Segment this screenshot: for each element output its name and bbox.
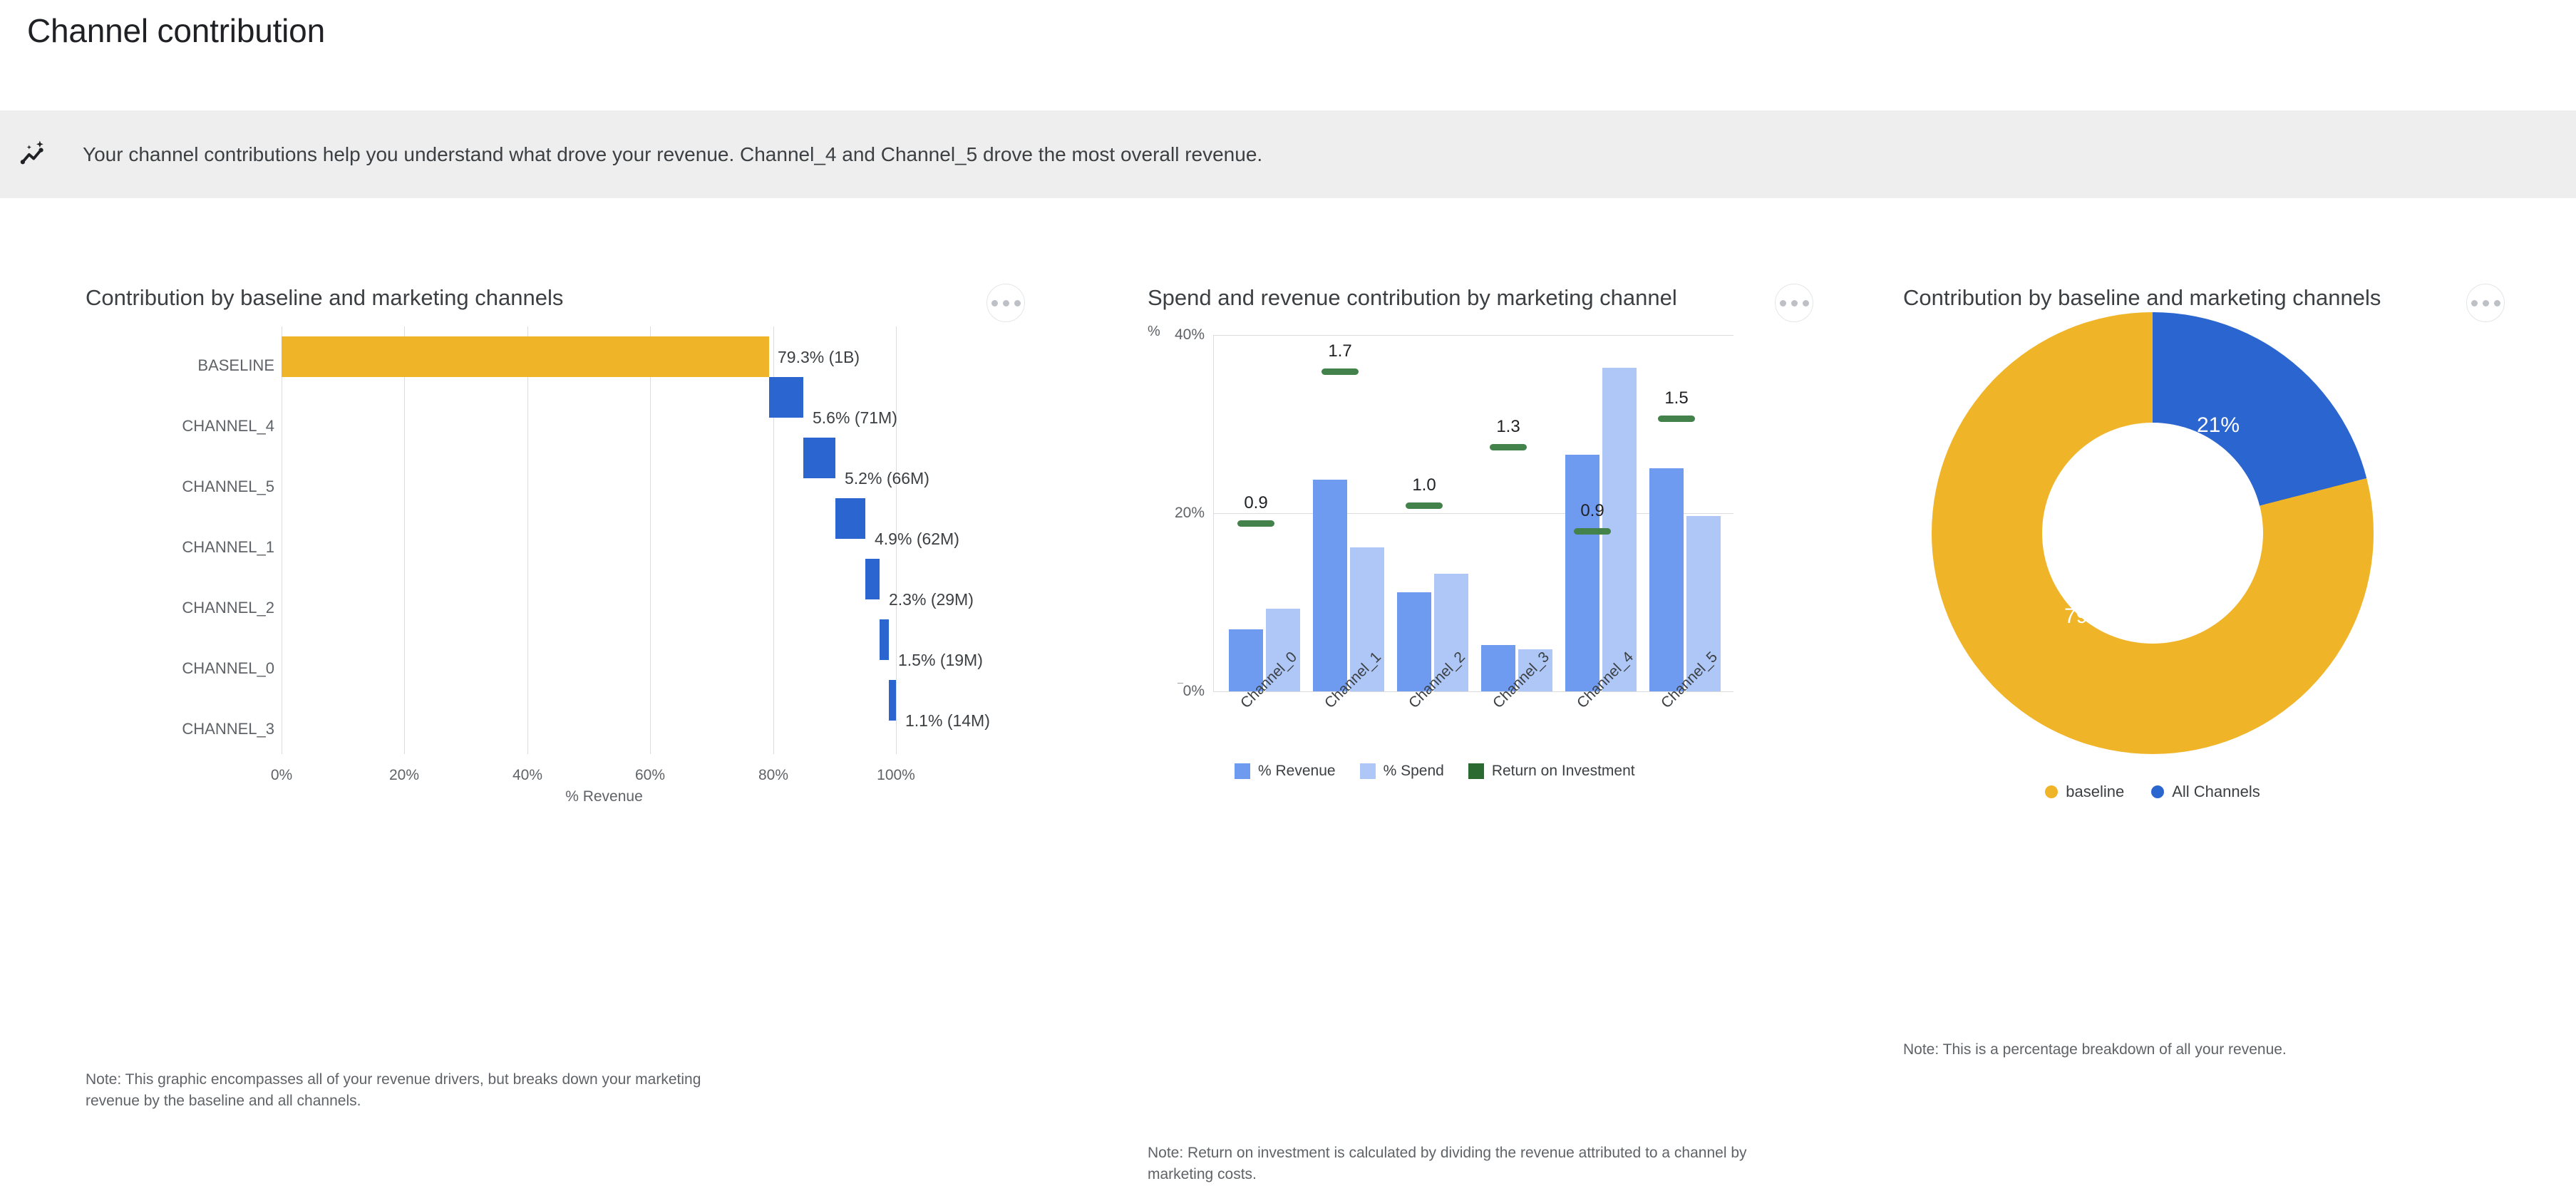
legend-dot-icon xyxy=(2045,785,2058,798)
donut-slice-label-baseline: 79% xyxy=(2064,604,2107,629)
gridline xyxy=(1213,691,1733,692)
legend-dot-icon xyxy=(2151,785,2164,798)
bars-note: Note: Return on investment is calculated… xyxy=(1148,1143,1775,1186)
waterfall-category-label: BASELINE xyxy=(197,356,274,375)
bar-group-channel-4: 0.9 xyxy=(1565,335,1639,691)
x-axis-tick: 60% xyxy=(635,767,665,784)
bar-revenue[interactable] xyxy=(1565,455,1599,691)
bar-group-channel-1: 1.7 xyxy=(1313,335,1387,691)
waterfall-value-label: 1.1% (14M) xyxy=(905,711,990,731)
roi-marker[interactable] xyxy=(1237,520,1274,527)
legend-swatch-icon xyxy=(1360,763,1376,779)
bars-legend: % Revenue % Spend Return on Investment xyxy=(1235,763,1635,780)
waterfall-category-label: CHANNEL_0 xyxy=(182,659,274,678)
kebab-dot-icon xyxy=(1003,300,1009,306)
legend-label: All Channels xyxy=(2172,783,2260,801)
x-axis-tick: 100% xyxy=(877,767,915,784)
waterfall-value-label: 79.3% (1B) xyxy=(778,348,860,367)
donut-chart: 21% 79% baseline All Channels xyxy=(1932,312,2431,811)
roi-value-label: 1.7 xyxy=(1316,341,1364,361)
waterfall-value-label: 2.3% (29M) xyxy=(889,590,974,609)
bars-more-options-button[interactable] xyxy=(1775,284,1813,322)
kebab-dot-icon xyxy=(2494,300,2500,306)
kebab-dot-icon xyxy=(2471,300,2478,306)
y-axis-tick: 20% xyxy=(1175,505,1205,522)
donut-chart-title: Contribution by baseline and marketing c… xyxy=(1903,285,2381,311)
insight-banner: Your channel contributions help you unde… xyxy=(0,110,2576,198)
waterfall-bar-baseline[interactable] xyxy=(282,336,769,377)
auto-insights-icon xyxy=(14,135,54,175)
waterfall-bar-channel-4[interactable] xyxy=(769,377,803,418)
legend-label: baseline xyxy=(2066,783,2124,801)
bar-group-channel-3: 1.3 xyxy=(1481,335,1555,691)
waterfall-category-label: CHANNEL_4 xyxy=(182,417,274,435)
kebab-dot-icon xyxy=(1803,300,1809,306)
donut-note: Note: This is a percentage breakdown of … xyxy=(1903,1039,2516,1061)
gridline xyxy=(650,326,651,754)
bar-revenue[interactable] xyxy=(1649,468,1684,691)
kebab-dot-icon xyxy=(1014,300,1021,306)
legend-item-all-channels[interactable]: All Channels xyxy=(2151,783,2260,801)
waterfall-x-axis: 0% 20% 40% 60% 80% 100% xyxy=(282,757,927,785)
roi-marker[interactable] xyxy=(1658,416,1695,422)
bar-group-channel-5: 1.5 xyxy=(1649,335,1724,691)
legend-item-roi[interactable]: Return on Investment xyxy=(1468,763,1635,780)
legend-item-revenue[interactable]: % Revenue xyxy=(1235,763,1336,780)
waterfall-more-options-button[interactable] xyxy=(986,284,1025,322)
panel-waterfall: Contribution by baseline and marketing c… xyxy=(0,198,1112,1021)
legend-label: % Spend xyxy=(1384,763,1444,780)
donut-legend: baseline All Channels xyxy=(1932,783,2374,801)
bars-plot-area: 0% 20% 40% 0.9 1.7 xyxy=(1213,335,1733,691)
roi-marker[interactable] xyxy=(1490,444,1527,450)
legend-label: Return on Investment xyxy=(1492,763,1635,780)
waterfall-x-axis-title: % Revenue xyxy=(282,788,927,805)
waterfall-category-label: CHANNEL_1 xyxy=(182,538,274,557)
insight-text: Your channel contributions help you unde… xyxy=(83,143,1262,166)
waterfall-bar-channel-3[interactable] xyxy=(889,680,896,721)
waterfall-category-label: CHANNEL_3 xyxy=(182,720,274,738)
bar-revenue[interactable] xyxy=(1313,480,1347,691)
waterfall-bar-channel-2[interactable] xyxy=(865,559,880,599)
waterfall-value-label: 4.9% (62M) xyxy=(875,530,959,549)
waterfall-bar-channel-0[interactable] xyxy=(880,619,889,660)
legend-item-baseline[interactable]: baseline xyxy=(2045,783,2124,801)
waterfall-note: Note: This graphic encompasses all of yo… xyxy=(86,1069,727,1113)
waterfall-value-label: 5.6% (71M) xyxy=(813,408,897,428)
legend-label: % Revenue xyxy=(1258,763,1336,780)
waterfall-category-label: CHANNEL_2 xyxy=(182,599,274,617)
waterfall-category-label: CHANNEL_5 xyxy=(182,478,274,496)
kebab-dot-icon xyxy=(1780,300,1786,306)
x-axis-tick: 80% xyxy=(758,767,788,784)
bar-group-channel-0: 0.9 xyxy=(1229,335,1303,691)
legend-item-spend[interactable]: % Spend xyxy=(1360,763,1444,780)
waterfall-bar-channel-5[interactable] xyxy=(803,438,835,478)
y-axis-tick: 40% xyxy=(1175,326,1205,344)
bars-chart-title: Spend and revenue contribution by market… xyxy=(1148,285,1677,311)
legend-swatch-icon xyxy=(1468,763,1484,779)
panel-spend-revenue: Spend and revenue contribution by market… xyxy=(1112,198,1882,1021)
roi-value-label: 0.9 xyxy=(1232,493,1280,513)
kebab-dot-icon xyxy=(2483,300,2489,306)
gridline xyxy=(404,326,405,754)
bar-group-channel-2: 1.0 xyxy=(1397,335,1471,691)
bar-revenue[interactable] xyxy=(1397,592,1431,691)
legend-swatch-icon xyxy=(1235,763,1250,779)
roi-value-label: 0.9 xyxy=(1568,501,1617,521)
waterfall-value-label: 1.5% (19M) xyxy=(898,651,983,670)
x-axis-tick: 0% xyxy=(271,767,292,784)
waterfall-value-label: 5.2% (66M) xyxy=(845,469,929,488)
gridline xyxy=(527,326,528,754)
donut-slice-label-all-channels: 21% xyxy=(2197,413,2240,438)
kebab-dot-icon xyxy=(1791,300,1798,306)
grouped-bar-chart: 0% 20% 40% 0.9 1.7 xyxy=(1170,335,1741,791)
donut-more-options-button[interactable] xyxy=(2466,284,2505,322)
bars-unit-label: % xyxy=(1148,324,1160,340)
roi-value-label: 1.5 xyxy=(1652,388,1701,408)
charts-row: Contribution by baseline and marketing c… xyxy=(0,198,2576,1021)
waterfall-chart-title: Contribution by baseline and marketing c… xyxy=(86,285,563,311)
waterfall-bar-channel-1[interactable] xyxy=(835,498,865,539)
roi-marker[interactable] xyxy=(1322,368,1359,375)
waterfall-chart: BASELINE CHANNEL_4 CHANNEL_5 CHANNEL_1 C… xyxy=(86,326,1026,825)
x-axis-tick: 20% xyxy=(389,767,419,784)
y-axis-tick: 0% xyxy=(1183,683,1205,700)
x-axis-tick: 40% xyxy=(512,767,542,784)
roi-value-label: 1.0 xyxy=(1400,475,1448,495)
gridline xyxy=(282,326,282,754)
kebab-dot-icon xyxy=(991,300,998,306)
roi-marker[interactable] xyxy=(1406,502,1443,509)
page-title: Channel contribution xyxy=(27,11,325,50)
roi-marker[interactable] xyxy=(1574,528,1611,535)
roi-value-label: 1.3 xyxy=(1484,417,1532,437)
panel-donut: Contribution by baseline and marketing c… xyxy=(1882,198,2576,1021)
waterfall-plot-area: 79.3% (1B) 5.6% (71M) 5.2% (66M) 4.9% (6… xyxy=(282,326,927,754)
